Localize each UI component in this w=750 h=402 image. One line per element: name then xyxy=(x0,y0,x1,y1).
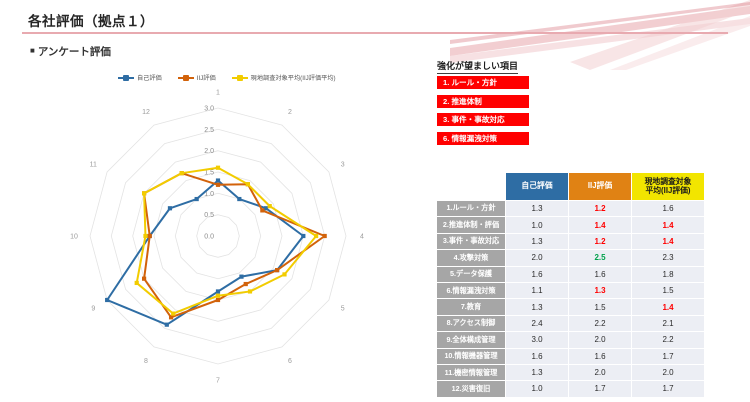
cell-iij-eval: 1.3 xyxy=(569,282,632,298)
cell-survey-average: 1.5 xyxy=(632,282,705,298)
radar-data-point xyxy=(216,178,220,182)
table-row: 7.教育1.31.51.4 xyxy=(437,299,705,315)
axis-label-11: 11 xyxy=(90,162,97,169)
cell-iij-eval: 2.0 xyxy=(569,332,632,348)
row-label: 7.教育 xyxy=(437,299,506,315)
table-row: 3.事件・事故対応1.31.21.4 xyxy=(437,233,705,249)
radar-data-point xyxy=(216,294,220,298)
legend-swatch-icon xyxy=(232,77,248,79)
cell-self-eval: 3.0 xyxy=(506,332,569,348)
cell-survey-average: 1.6 xyxy=(632,201,705,217)
cell-iij-eval: 2.0 xyxy=(569,364,632,380)
radar-data-point xyxy=(216,289,220,293)
axis-label-12: 12 xyxy=(142,109,150,116)
cell-self-eval: 1.3 xyxy=(506,201,569,217)
highlight-item-list: 1. ルール・方針2. 推進体制3. 事件・事故対応6. 情報漏洩対策 xyxy=(437,76,529,150)
cell-self-eval: 1.0 xyxy=(506,217,569,233)
cell-survey-average: 2.0 xyxy=(632,364,705,380)
table-corner-cell xyxy=(437,173,506,201)
cell-iij-eval: 1.5 xyxy=(569,299,632,315)
cell-self-eval: 2.0 xyxy=(506,250,569,266)
axis-label-6: 6 xyxy=(288,358,292,365)
table-row: 8.アクセス制御2.42.22.1 xyxy=(437,315,705,331)
radar-data-point xyxy=(301,234,305,238)
table-header-row: 自己評価 IIJ評価 現地調査対象 平均(IIJ評価) xyxy=(437,173,705,201)
column-header-self-eval: 自己評価 xyxy=(506,173,569,201)
radial-tick-label: 2.5 xyxy=(204,127,214,134)
radar-data-point xyxy=(105,298,109,302)
page-title: 各社評価（拠点１） xyxy=(28,10,154,30)
row-label: 6.情報漏洩対策 xyxy=(437,282,506,298)
radar-gridline xyxy=(90,108,346,364)
cell-iij-eval: 1.2 xyxy=(569,233,632,249)
column-header-survey-average-line1: 現地調査対象 xyxy=(645,177,692,186)
radar-gridline xyxy=(197,215,240,258)
radial-tick-label: 0.5 xyxy=(204,212,214,219)
radar-data-point xyxy=(239,275,243,279)
radar-data-point xyxy=(275,268,279,272)
table-row: 4.攻撃対策2.02.52.3 xyxy=(437,250,705,266)
axis-label-4: 4 xyxy=(360,234,364,241)
cell-survey-average: 1.4 xyxy=(632,299,705,315)
legend-label: 自己評価 xyxy=(137,73,162,82)
table-row: 12.災害復旧1.01.71.7 xyxy=(437,381,705,397)
section-subheading-label: アンケート評価 xyxy=(38,46,111,58)
cell-iij-eval: 2.5 xyxy=(569,250,632,266)
radar-data-point xyxy=(237,197,241,201)
legend-item: 現地調査対象平均(IIJ評価平均) xyxy=(232,73,336,82)
radar-gridline xyxy=(111,129,324,342)
cell-iij-eval: 1.6 xyxy=(569,348,632,364)
radar-data-point xyxy=(142,191,146,195)
radar-chart: 0.00.51.01.52.02.53.0123456789101112 xyxy=(58,82,388,400)
axis-label-10: 10 xyxy=(70,234,78,241)
radar-data-point xyxy=(148,234,152,238)
column-header-survey-average: 現地調査対象 平均(IIJ評価) xyxy=(632,173,705,201)
radar-data-point xyxy=(195,197,199,201)
row-label: 12.災害復旧 xyxy=(437,381,506,397)
cell-survey-average: 1.4 xyxy=(632,217,705,233)
axis-label-2: 2 xyxy=(288,109,292,116)
radar-data-point xyxy=(260,208,264,212)
cell-self-eval: 1.3 xyxy=(506,233,569,249)
radar-data-point xyxy=(216,183,220,187)
highlight-item: 3. 事件・事故対応 xyxy=(437,113,529,126)
radar-data-point xyxy=(246,182,250,186)
cell-self-eval: 1.1 xyxy=(506,282,569,298)
column-header-survey-average-line2: 平均(IIJ評価) xyxy=(645,186,690,195)
legend-label: IIJ評価 xyxy=(197,73,216,82)
cell-iij-eval: 1.6 xyxy=(569,266,632,282)
radar-data-point xyxy=(165,323,169,327)
legend-item: IIJ評価 xyxy=(178,73,216,82)
radar-data-point xyxy=(171,312,175,316)
table-row: 2.推進体制・評価1.01.41.4 xyxy=(437,217,705,233)
axis-label-3: 3 xyxy=(341,162,345,169)
row-label: 1.ルール・方針 xyxy=(437,201,506,217)
radial-tick-label: 2.0 xyxy=(204,148,214,155)
cell-survey-average: 1.8 xyxy=(632,266,705,282)
cell-self-eval: 1.6 xyxy=(506,348,569,364)
axis-label-9: 9 xyxy=(91,306,95,313)
cell-survey-average: 2.3 xyxy=(632,250,705,266)
table-row: 5.データ保護1.61.61.8 xyxy=(437,266,705,282)
cell-iij-eval: 2.2 xyxy=(569,315,632,331)
radar-data-point xyxy=(268,204,272,208)
legend-label: 現地調査対象平均(IIJ評価平均) xyxy=(251,73,336,82)
radar-data-point xyxy=(168,206,172,210)
highlight-item: 1. ルール・方針 xyxy=(437,76,529,89)
radar-series-line xyxy=(137,168,316,314)
highlight-item: 2. 推進体制 xyxy=(437,95,529,108)
radar-gridline xyxy=(154,172,282,300)
cell-self-eval: 1.6 xyxy=(506,266,569,282)
table-body: 1.ルール・方針1.31.21.62.推進体制・評価1.01.41.43.事件・… xyxy=(437,201,705,398)
legend-swatch-icon xyxy=(118,77,134,79)
table-row: 10.情報機器管理1.61.61.7 xyxy=(437,348,705,364)
cell-iij-eval: 1.2 xyxy=(569,201,632,217)
row-label: 5.データ保護 xyxy=(437,266,506,282)
column-header-iij-eval: IIJ評価 xyxy=(569,173,632,201)
table-row: 1.ルール・方針1.31.21.6 xyxy=(437,201,705,217)
radar-data-point xyxy=(143,234,147,238)
radar-gridline xyxy=(175,193,260,278)
axis-label-8: 8 xyxy=(144,358,148,365)
axis-label-7: 7 xyxy=(216,378,220,385)
cell-iij-eval: 1.7 xyxy=(569,381,632,397)
radar-data-point xyxy=(314,234,318,238)
cell-survey-average: 1.7 xyxy=(632,348,705,364)
cell-self-eval: 1.3 xyxy=(506,299,569,315)
row-label: 8.アクセス制御 xyxy=(437,315,506,331)
axis-label-1: 1 xyxy=(216,90,220,97)
radar-data-point xyxy=(180,171,184,175)
cell-self-eval: 2.4 xyxy=(506,315,569,331)
square-bullet-icon: ■ xyxy=(30,46,35,55)
radar-data-point xyxy=(244,282,248,286)
row-label: 9.全体構成管理 xyxy=(437,332,506,348)
cell-survey-average: 1.7 xyxy=(632,381,705,397)
cell-self-eval: 1.0 xyxy=(506,381,569,397)
radar-data-point xyxy=(216,298,220,302)
row-label: 2.推進体制・評価 xyxy=(437,217,506,233)
radar-data-point xyxy=(169,315,173,319)
row-label: 10.情報機器管理 xyxy=(437,348,506,364)
cell-survey-average: 1.4 xyxy=(632,233,705,249)
cell-self-eval: 1.3 xyxy=(506,364,569,380)
section-subheading: ■アンケート評価 xyxy=(30,44,111,59)
radial-tick-label: 0.0 xyxy=(204,234,214,241)
radial-tick-label: 3.0 xyxy=(204,106,214,113)
cell-survey-average: 2.2 xyxy=(632,332,705,348)
row-label: 3.事件・事故対応 xyxy=(437,233,506,249)
row-label: 4.攻撃対策 xyxy=(437,250,506,266)
cell-survey-average: 2.1 xyxy=(632,315,705,331)
highlight-item: 6. 情報漏洩対策 xyxy=(437,132,529,145)
table-row: 6.情報漏洩対策1.11.31.5 xyxy=(437,282,705,298)
table-row: 11.機密情報管理1.32.02.0 xyxy=(437,364,705,380)
radar-data-point xyxy=(135,281,139,285)
cell-iij-eval: 1.4 xyxy=(569,217,632,233)
legend-swatch-icon xyxy=(178,77,194,79)
radar-data-point xyxy=(216,166,220,170)
axis-label-5: 5 xyxy=(341,306,345,313)
table-row: 9.全体構成管理3.02.02.2 xyxy=(437,332,705,348)
row-label: 11.機密情報管理 xyxy=(437,364,506,380)
title-divider xyxy=(22,32,728,34)
radar-data-point xyxy=(264,206,268,210)
chart-legend: 自己評価IIJ評価現地調査対象平均(IIJ評価平均) xyxy=(118,73,336,82)
radar-data-point xyxy=(282,272,286,276)
radar-data-point xyxy=(248,289,252,293)
highlight-panel-title: 強化が望ましい項目 xyxy=(437,59,518,74)
legend-item: 自己評価 xyxy=(118,73,162,82)
evaluation-table: 自己評価 IIJ評価 現地調査対象 平均(IIJ評価) 1.ルール・方針1.31… xyxy=(437,172,705,398)
radar-data-point xyxy=(142,277,146,281)
radar-data-point xyxy=(323,234,327,238)
